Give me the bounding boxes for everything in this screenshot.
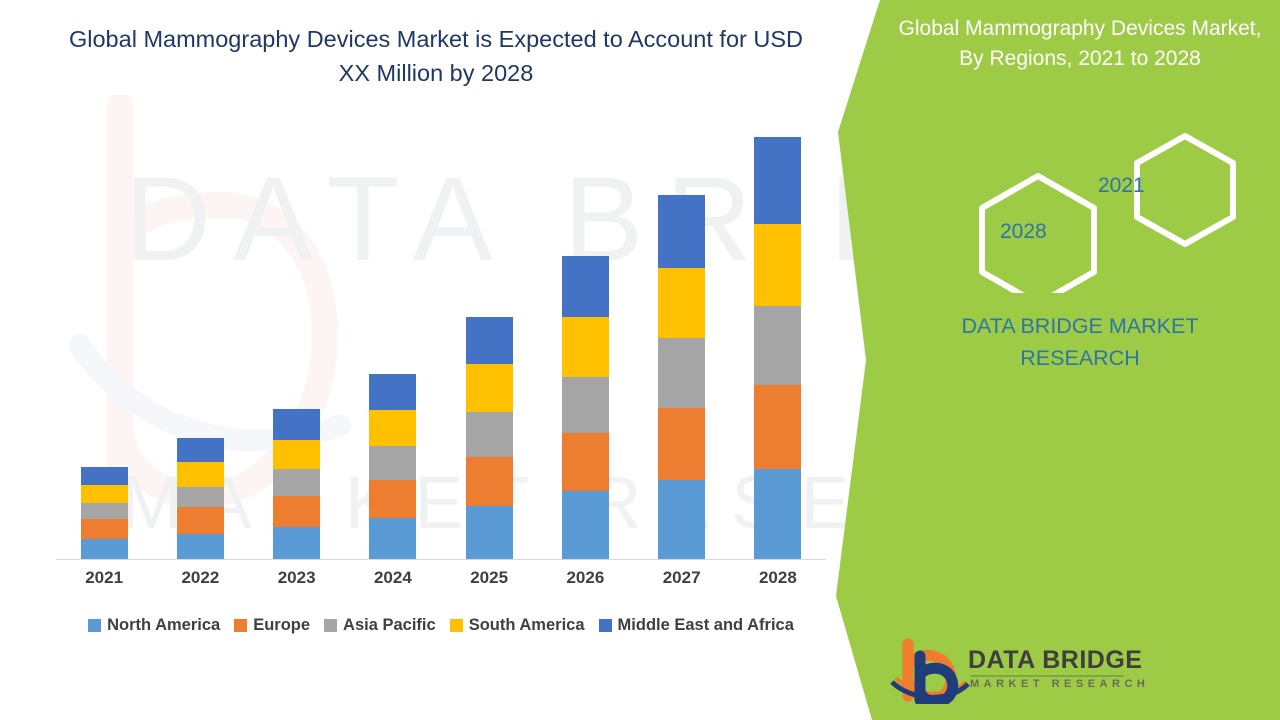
x-axis-label: 2026 (537, 568, 633, 588)
chart-title: Global Mammography Devices Market is Exp… (66, 22, 806, 90)
bar-segment[interactable] (658, 195, 705, 267)
legend-item[interactable]: North America (88, 616, 220, 635)
legend-item[interactable]: Europe (234, 616, 310, 635)
bar-segment[interactable] (177, 507, 224, 534)
legend-swatch-icon (450, 619, 463, 632)
bar-segment[interactable] (562, 433, 609, 492)
bar-segment[interactable] (81, 503, 128, 519)
legend-item[interactable]: Middle East and Africa (599, 616, 794, 635)
logo-secondary-text: MARKET RESEARCH (970, 678, 1149, 690)
bar-slot (730, 120, 826, 559)
bar-slot (537, 120, 633, 559)
bar-segment[interactable] (177, 438, 224, 463)
legend-label: South America (469, 616, 585, 635)
x-axis-label: 2027 (634, 568, 730, 588)
bar-segment[interactable] (273, 409, 320, 439)
bar-segment[interactable] (658, 480, 705, 559)
logo-divider (970, 675, 1124, 677)
bar-segment[interactable] (81, 485, 128, 503)
hexagon-shapes (970, 128, 1270, 293)
legend-item[interactable]: South America (450, 616, 585, 635)
bar-segment[interactable] (658, 408, 705, 480)
x-axis-label: 2024 (345, 568, 441, 588)
bar-segment[interactable] (273, 496, 320, 528)
bar-segment[interactable] (273, 469, 320, 496)
bar-segment[interactable] (273, 527, 320, 559)
panel-title: Global Mammography Devices Market, By Re… (890, 14, 1270, 74)
bar-slot (634, 120, 730, 559)
bar-segment[interactable] (369, 374, 416, 410)
bar-segment[interactable] (562, 491, 609, 559)
panel-content: Global Mammography Devices Market, By Re… (880, 0, 1280, 720)
hexagon-outline-2021 (1137, 136, 1233, 244)
stacked-bar[interactable] (658, 195, 705, 559)
legend-swatch-icon (88, 619, 101, 632)
stacked-bar[interactable] (562, 256, 609, 559)
x-axis-line (56, 559, 826, 560)
bar-segment[interactable] (754, 306, 801, 385)
legend-swatch-icon (234, 619, 247, 632)
hexagon-group: 2021 2028 (970, 128, 1270, 293)
bar-segment[interactable] (754, 224, 801, 306)
legend-label: Middle East and Africa (618, 616, 794, 635)
logo-primary-text: DATA BRIDGE (968, 646, 1142, 675)
legend-label: North America (107, 616, 220, 635)
hexagon-label-end-year: 2028 (1000, 220, 1047, 244)
bar-slot (152, 120, 248, 559)
bar-segment[interactable] (466, 457, 513, 507)
data-bridge-logo: DATA BRIDGE MARKET RESEARCH (890, 638, 1130, 704)
legend-label: Europe (253, 616, 310, 635)
bar-group (56, 120, 826, 559)
panel-brand-text: DATA BRIDGE MARKET RESEARCH (900, 310, 1260, 374)
bar-segment[interactable] (81, 467, 128, 485)
stacked-bar[interactable] (466, 317, 513, 559)
legend-item[interactable]: Asia Pacific (324, 616, 436, 635)
stacked-bar[interactable] (273, 409, 320, 559)
bar-segment[interactable] (81, 539, 128, 559)
bar-segment[interactable] (466, 317, 513, 364)
bar-segment[interactable] (177, 487, 224, 507)
x-axis-label: 2021 (56, 568, 152, 588)
x-axis-label: 2022 (152, 568, 248, 588)
legend-label: Asia Pacific (343, 616, 436, 635)
stacked-bar[interactable] (754, 137, 801, 559)
x-axis-label: 2025 (441, 568, 537, 588)
x-axis-labels: 20212022202320242025202620272028 (56, 568, 826, 588)
x-axis-label: 2023 (249, 568, 345, 588)
bar-segment[interactable] (754, 137, 801, 224)
bar-segment[interactable] (81, 519, 128, 539)
bar-segment[interactable] (273, 440, 320, 469)
bar-segment[interactable] (466, 412, 513, 457)
bar-segment[interactable] (562, 317, 609, 377)
bar-segment[interactable] (177, 534, 224, 559)
bar-slot (249, 120, 345, 559)
stacked-bar[interactable] (177, 438, 224, 560)
bar-slot (441, 120, 537, 559)
bar-segment[interactable] (466, 364, 513, 411)
bar-segment[interactable] (754, 469, 801, 559)
chart-plot-area (56, 120, 826, 560)
bar-segment[interactable] (466, 506, 513, 559)
stacked-bar[interactable] (369, 374, 416, 559)
bar-segment[interactable] (369, 480, 416, 518)
bar-segment[interactable] (562, 256, 609, 317)
bar-segment[interactable] (369, 410, 416, 446)
infographic-canvas: DATA BRIDGE MARKET RESEARCH Global Mammo… (0, 0, 1280, 720)
legend-swatch-icon (599, 619, 612, 632)
hexagon-label-start-year: 2021 (1098, 174, 1145, 198)
bar-segment[interactable] (369, 446, 416, 480)
bar-segment[interactable] (369, 518, 416, 559)
bar-segment[interactable] (658, 338, 705, 408)
chart-legend: North AmericaEuropeAsia PacificSouth Ame… (56, 616, 826, 635)
bar-segment[interactable] (754, 385, 801, 469)
bar-slot (345, 120, 441, 559)
bar-segment[interactable] (658, 268, 705, 339)
x-axis-label: 2028 (730, 568, 826, 588)
bar-segment[interactable] (177, 462, 224, 487)
stacked-bar[interactable] (81, 467, 128, 559)
bar-slot (56, 120, 152, 559)
legend-swatch-icon (324, 619, 337, 632)
bar-segment[interactable] (562, 377, 609, 433)
